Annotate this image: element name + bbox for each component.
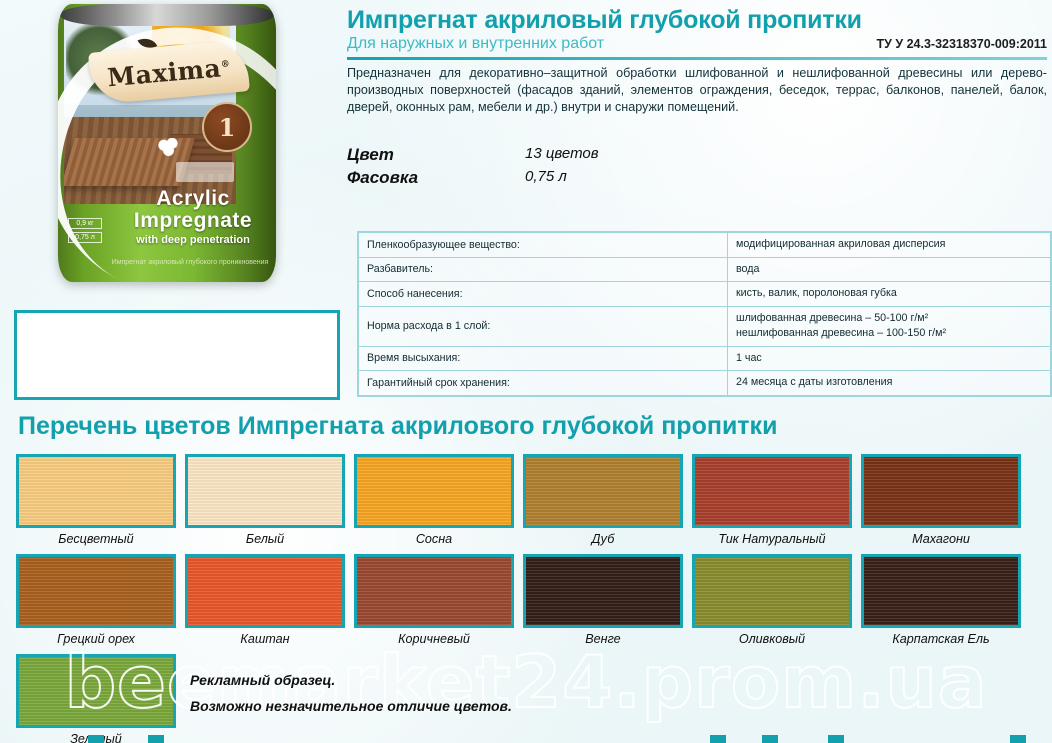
table-row: Способ нанесения: кисть, валик, поролоно…	[359, 282, 1051, 307]
palette-title: Перечень цветов Импрегната акрилового гл…	[18, 412, 777, 441]
disclaimer-notes: Рекламный образец. Возможно незначительн…	[190, 672, 512, 724]
header-divider	[347, 57, 1047, 60]
page-title: Импрегнат акриловый глубокой пропитки	[347, 6, 1047, 34]
color-swatch[interactable]	[861, 554, 1021, 628]
table-cell-key: Гарантийный срок хранения:	[359, 371, 728, 396]
color-swatch[interactable]	[354, 454, 514, 528]
value-line: вода	[736, 262, 1042, 278]
layers-badge: 1	[202, 102, 252, 152]
swatch-label: Оливковый	[692, 632, 852, 646]
bottom-decoration	[0, 735, 1052, 743]
color-swatch[interactable]	[16, 654, 176, 728]
header-block: Импрегнат акриловый глубокой пропитки Дл…	[347, 6, 1047, 116]
table-row: Разбавитель: вода	[359, 257, 1051, 282]
color-swatch[interactable]	[185, 454, 345, 528]
table-cell-value: шлифованная древесина – 50-100 г/м² нешл…	[728, 306, 1051, 346]
swatch-cell[interactable]: Оливковый	[692, 554, 852, 646]
spec-summary-list: Цвет 13 цветов Фасовка 0,75 л	[347, 145, 767, 191]
table-cell-key: Способ нанесения:	[359, 282, 728, 307]
brand-name: Maxima®	[106, 52, 231, 92]
table-row: Время высыхания: 1 час	[359, 346, 1051, 371]
swatch-cell[interactable]: Коричневый	[354, 554, 514, 646]
color-swatch[interactable]	[523, 454, 683, 528]
value-line: 24 месяца с даты изготовления	[736, 375, 1042, 391]
color-swatch[interactable]	[692, 554, 852, 628]
bottom-shape	[1010, 735, 1026, 743]
swatch-label: Каштан	[185, 632, 345, 646]
spec-row: Цвет 13 цветов	[347, 145, 767, 165]
swatch-cell[interactable]: Венге	[523, 554, 683, 646]
value-line: шлифованная древесина – 50-100 г/м²	[736, 311, 1042, 327]
color-swatch[interactable]	[16, 454, 176, 528]
table-cell-value: вода	[728, 257, 1051, 282]
swatch-cell[interactable]: Дуб	[523, 454, 683, 546]
color-swatch[interactable]	[354, 554, 514, 628]
table-row: Гарантийный срок хранения: 24 месяца с д…	[359, 371, 1051, 396]
table-row: Пленкообразующее вещество: модифицирован…	[359, 233, 1051, 258]
color-swatch[interactable]	[692, 454, 852, 528]
color-swatch[interactable]	[185, 554, 345, 628]
product-can-image: Maxima® 1 0,9 кг 0,75 л Acrylic Impregna…	[58, 0, 290, 288]
color-swatch[interactable]	[861, 454, 1021, 528]
page-subtitle: Для наружных и внутренних работ	[347, 35, 604, 53]
swatch-cell[interactable]: Бесцветный	[16, 454, 176, 546]
can-volume-block: 0,9 кг 0,75 л	[68, 218, 102, 246]
spec-key: Фасовка	[347, 168, 525, 188]
table-body: Пленкообразующее вещество: модифицирован…	[359, 233, 1051, 396]
bottom-shape	[828, 735, 844, 743]
swatch-cell[interactable]: Карпатская Ель	[861, 554, 1021, 646]
value-line: 1 час	[736, 351, 1042, 367]
value-line: нешлифованная древесина – 100-150 г/м²	[736, 326, 1042, 342]
spec-value: 0,75 л	[525, 168, 567, 188]
swatch-row: Грецкий орех Каштан Коричневый Венге Оли…	[16, 554, 1040, 646]
swatch-cell[interactable]: Зеленый	[16, 654, 176, 743]
product-datasheet-page: Maxima® 1 0,9 кг 0,75 л Acrylic Impregna…	[0, 0, 1052, 743]
swatch-cell[interactable]: Тик Натуральный	[692, 454, 852, 546]
can-product-title: Acrylic Impregnate with deep penetration	[118, 188, 268, 246]
table-cell-value: кисть, валик, поролоновая губка	[728, 282, 1051, 307]
value-line: кисть, валик, поролоновая губка	[736, 286, 1042, 302]
swatch-label: Сосна	[354, 532, 514, 546]
swatch-cell[interactable]: Грецкий орех	[16, 554, 176, 646]
swatch-label: Коричневый	[354, 632, 514, 646]
can-tagline: with deep penetration	[118, 234, 268, 246]
bottom-shape	[148, 735, 164, 743]
table-cell-key: Пленкообразующее вещество:	[359, 233, 728, 258]
table-cell-key: Норма расхода в 1 слой:	[359, 306, 728, 346]
swatch-row: Зеленый	[16, 654, 1040, 743]
spec-value: 13 цветов	[525, 145, 599, 165]
can-weight: 0,9 кг	[68, 218, 102, 229]
swatch-label: Тик Натуральный	[692, 532, 852, 546]
registered-mark: ®	[220, 59, 230, 70]
spec-row: Фасовка 0,75 л	[347, 168, 767, 188]
color-swatch[interactable]	[523, 554, 683, 628]
swatch-label: Дуб	[523, 532, 683, 546]
spec-key: Цвет	[347, 145, 525, 165]
swatch-row: Бесцветный Белый Сосна Дуб Тик Натуральн…	[16, 454, 1040, 546]
color-swatch-grid: Бесцветный Белый Сосна Дуб Тик Натуральн…	[16, 454, 1040, 743]
product-description: Предназначен для декоративно–защитной об…	[347, 65, 1047, 116]
swatch-cell[interactable]: Махагони	[861, 454, 1021, 546]
bottom-shape	[88, 735, 104, 743]
table-cell-value: 1 час	[728, 346, 1051, 371]
paint-can: Maxima® 1 0,9 кг 0,75 л Acrylic Impregna…	[58, 4, 276, 282]
table-cell-key: Разбавитель:	[359, 257, 728, 282]
swatch-label: Карпатская Ель	[861, 632, 1021, 646]
application-pictogram	[176, 162, 234, 182]
bottom-shape	[710, 735, 726, 743]
swatch-cell[interactable]: Каштан	[185, 554, 345, 646]
note-advertising-sample: Рекламный образец.	[190, 672, 512, 688]
subtitle-row: Для наружных и внутренних работ ТУ У 24.…	[347, 35, 1047, 53]
technical-specification-table: Пленкообразующее вещество: модифицирован…	[357, 231, 1052, 397]
swatch-cell[interactable]: Сосна	[354, 454, 514, 546]
value-line: модифицированная акриловая дисперсия	[736, 237, 1042, 253]
note-color-difference: Возможно незначительное отличие цветов.	[190, 698, 512, 714]
can-title-line2: Impregnate	[118, 210, 268, 232]
bottom-shape	[762, 735, 778, 743]
swatch-cell[interactable]: Белый	[185, 454, 345, 546]
table-row: Норма расхода в 1 слой: шлифованная древ…	[359, 306, 1051, 346]
swatch-label: Бесцветный	[16, 532, 176, 546]
can-russian-subtitle: Импрегнат акриловый глубокого проникнове…	[110, 259, 270, 266]
table-cell-value: модифицированная акриловая дисперсия	[728, 233, 1051, 258]
swatch-label: Белый	[185, 532, 345, 546]
swatch-label: Венге	[523, 632, 683, 646]
tu-code: ТУ У 24.3-32318370-009:2011	[876, 37, 1047, 53]
can-lid	[60, 4, 274, 26]
table-cell-key: Время высыхания:	[359, 346, 728, 371]
color-swatch[interactable]	[16, 554, 176, 628]
can-volume: 0,75 л	[68, 232, 102, 243]
can-title-line1: Acrylic	[118, 188, 268, 210]
empty-placeholder-box	[14, 310, 340, 400]
table-cell-value: 24 месяца с даты изготовления	[728, 371, 1051, 396]
swatch-label: Махагони	[861, 532, 1021, 546]
swatch-label: Грецкий орех	[16, 632, 176, 646]
